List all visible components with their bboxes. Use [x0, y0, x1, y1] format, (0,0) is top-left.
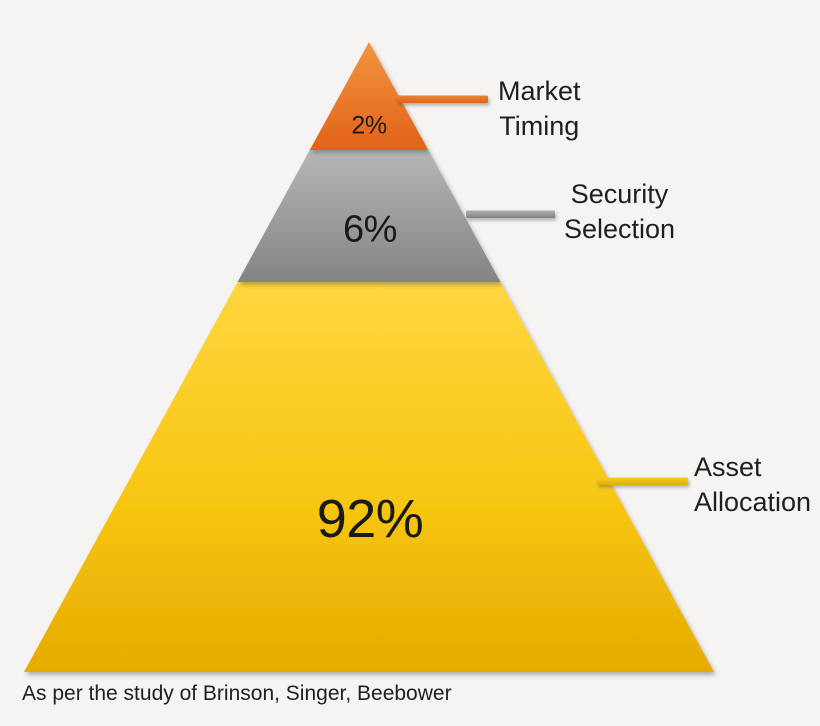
tier-label-security-selection-line2: Selection — [564, 212, 675, 247]
tier-label-market-timing: Market Timing — [498, 74, 581, 144]
connector-line-market-timing — [396, 96, 488, 104]
tier-label-market-timing-line1: Market — [498, 74, 581, 109]
tier-label-security-selection-line1: Security — [564, 177, 675, 212]
tier-label-asset-allocation: Asset Allocation — [694, 450, 811, 520]
pyramid-graphic — [0, 0, 820, 726]
tier-label-market-timing-line2: Timing — [498, 109, 581, 144]
tier-value-market-timing: 2% — [351, 112, 386, 141]
pyramid-diagram-canvas: 2% 6% 92% Market Timing Security Selecti… — [0, 0, 820, 726]
pyramid-tier-asset-allocation[interactable] — [24, 282, 714, 672]
tier-label-asset-allocation-line2: Allocation — [694, 485, 811, 520]
tier-value-security-selection: 6% — [343, 209, 397, 252]
source-caption: As per the study of Brinson, Singer, Bee… — [22, 682, 452, 706]
tier-label-asset-allocation-line1: Asset — [694, 450, 811, 485]
tier-value-asset-allocation: 92% — [317, 488, 424, 550]
connector-line-asset-allocation — [597, 478, 688, 486]
tier-label-security-selection: Security Selection — [564, 177, 675, 247]
connector-line-security-selection — [466, 211, 555, 219]
